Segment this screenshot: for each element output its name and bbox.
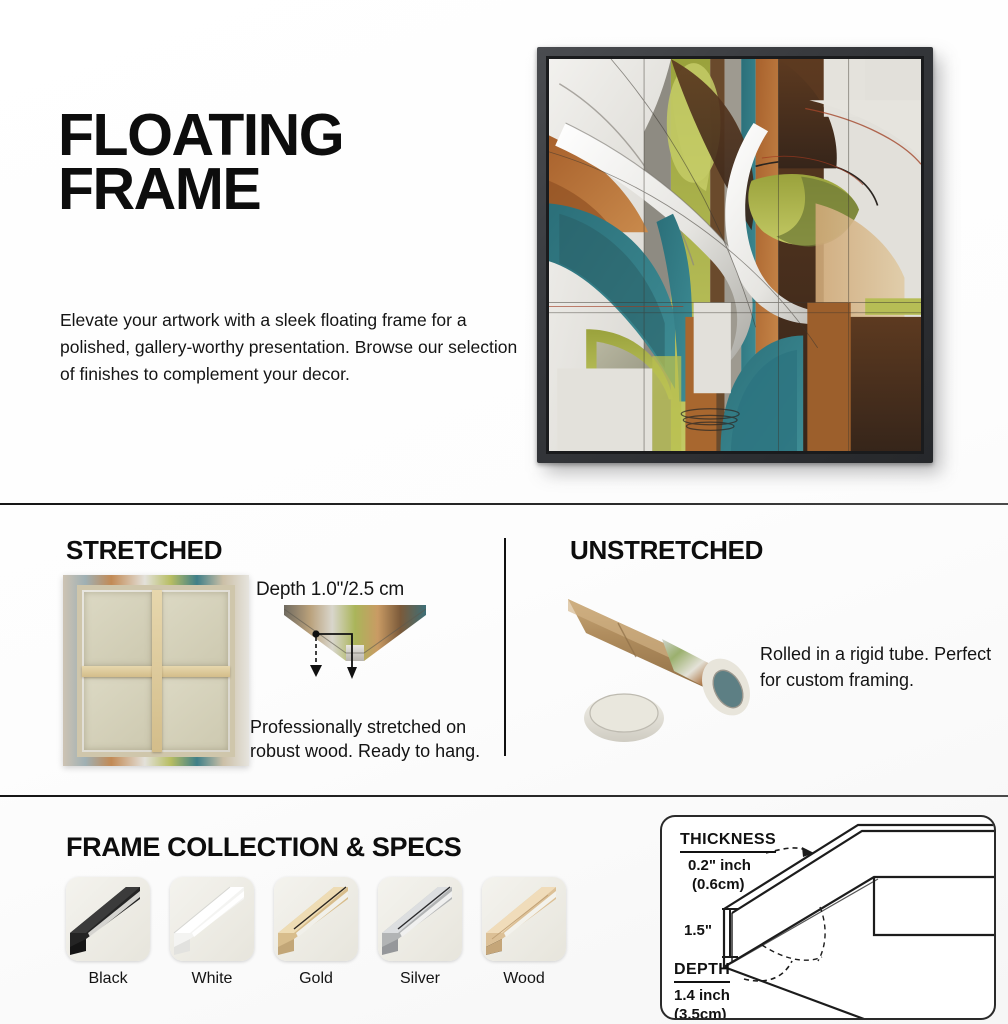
canvas-quadrant bbox=[160, 592, 228, 666]
stretched-canvas-back-image bbox=[63, 575, 249, 766]
frame-swatch-silver[interactable]: Silver bbox=[378, 877, 462, 988]
abstract-geometric-painting-icon bbox=[549, 59, 921, 451]
frame-corner-icon bbox=[274, 877, 358, 961]
frame-swatch-black[interactable]: Black bbox=[66, 877, 150, 988]
depth-value-inch: 1.4 inch bbox=[674, 987, 730, 1004]
thickness-value-cm: (0.6cm) bbox=[692, 876, 745, 893]
canvas-quadrant bbox=[84, 592, 152, 666]
frame-corner-icon bbox=[378, 877, 462, 961]
stretched-heading: STRETCHED bbox=[66, 535, 222, 566]
swatch-thumbnail[interactable] bbox=[482, 877, 566, 961]
canvas-quadrant bbox=[160, 676, 228, 750]
frame-corner-icon bbox=[170, 877, 254, 961]
thickness-label: THICKNESS bbox=[680, 831, 776, 853]
depth-label: DEPTH bbox=[674, 961, 730, 983]
vertical-stretcher-bar bbox=[152, 590, 162, 752]
infographic-page: FLOATING FRAME Elevate your artwork with… bbox=[0, 0, 1008, 1024]
frame-float-gap bbox=[546, 56, 924, 454]
stretcher-frame bbox=[77, 585, 235, 757]
unstretched-heading: UNSTRETCHED bbox=[570, 535, 763, 566]
swatch-label: Gold bbox=[274, 970, 358, 988]
unstretched-description: Rolled in a rigid tube. Perfect for cust… bbox=[760, 641, 1008, 693]
stretched-description: Professionally stretched on robust wood.… bbox=[250, 715, 508, 764]
frame-collection-section: FRAME COLLECTION & SPECS Black bbox=[0, 797, 1008, 1024]
depth-value-cm: (3.5cm) bbox=[674, 1006, 727, 1020]
panel-divider-vertical bbox=[504, 538, 506, 756]
swatch-thumbnail[interactable] bbox=[378, 877, 462, 961]
depth-dimension-arrows bbox=[256, 601, 436, 691]
floating-frame-border bbox=[537, 47, 933, 463]
abstract-painting-canvas bbox=[549, 59, 921, 451]
canvas-quadrant bbox=[84, 676, 152, 750]
swatch-label: Wood bbox=[482, 970, 566, 988]
height-value: 1.5" bbox=[684, 922, 712, 939]
swatch-thumbnail[interactable] bbox=[170, 877, 254, 961]
frame-collection-heading: FRAME COLLECTION & SPECS bbox=[66, 832, 461, 863]
title-line-2: FRAME bbox=[58, 162, 478, 216]
depth-measurement-label: Depth 1.0"/2.5 cm bbox=[256, 579, 404, 601]
swatch-thumbnail[interactable] bbox=[66, 877, 150, 961]
framed-artwork bbox=[537, 47, 933, 463]
thickness-value-inch: 0.2" inch bbox=[688, 857, 751, 874]
swatch-label: White bbox=[170, 970, 254, 988]
frame-swatch-wood[interactable]: Wood bbox=[482, 877, 566, 988]
page-title: FLOATING FRAME bbox=[58, 108, 478, 217]
frame-swatch-gold[interactable]: Gold bbox=[274, 877, 358, 988]
hero-description: Elevate your artwork with a sleek floati… bbox=[60, 307, 530, 388]
frame-corner-icon bbox=[66, 877, 150, 961]
frame-spec-diagram: THICKNESS 0.2" inch (0.6cm) 1.5" DEPTH 1… bbox=[660, 815, 996, 1020]
shipping-options-section: STRETCHED Depth 1.0"/2.5 cm bbox=[0, 505, 1008, 795]
swatch-thumbnail[interactable] bbox=[274, 877, 358, 961]
swatch-label: Silver bbox=[378, 970, 462, 988]
frame-swatch-white[interactable]: White bbox=[170, 877, 254, 988]
hero-section: FLOATING FRAME Elevate your artwork with… bbox=[0, 0, 1008, 503]
frame-swatch-list: Black White bbox=[66, 877, 606, 988]
frame-corner-icon bbox=[482, 877, 566, 961]
swatch-label: Black bbox=[66, 970, 150, 988]
